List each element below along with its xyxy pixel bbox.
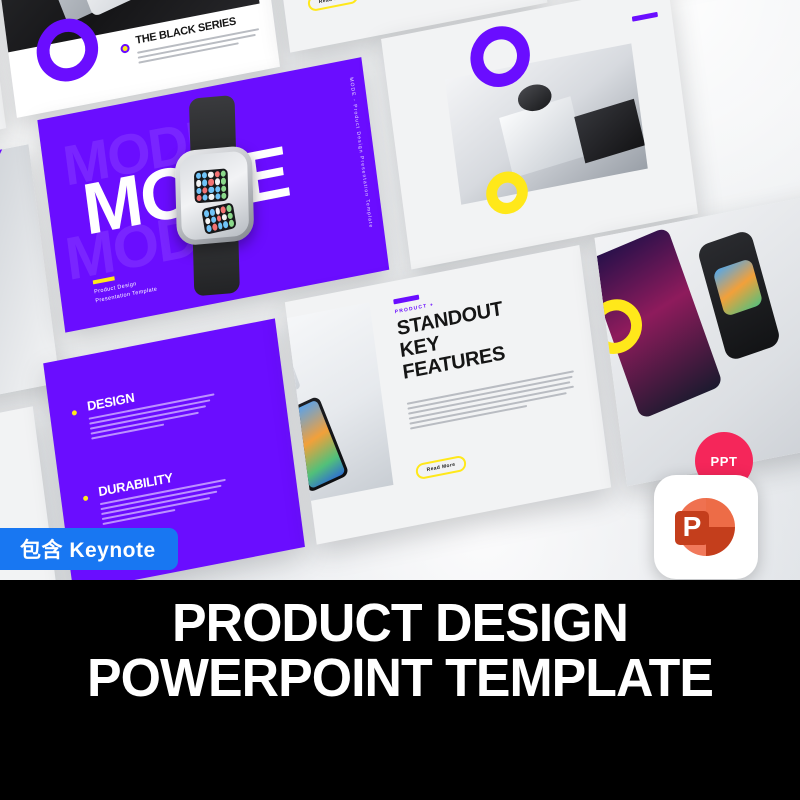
purple-bar-decor-product: [632, 12, 658, 22]
read-more-button-standout[interactable]: Read more: [415, 455, 467, 481]
promo-title: PRODUCT DESIGN POWERPOINT TEMPLATE: [0, 596, 800, 706]
phone-charger-photo: [285, 302, 394, 519]
hero-side-text: MODE - Product Design Presentation Templ…: [348, 77, 374, 229]
promo-title-line-2: POWERPOINT TEMPLATE: [16, 651, 784, 706]
smartwatch-screen: [180, 150, 250, 240]
read-more-button-sneak[interactable]: Read more: [307, 0, 359, 12]
powerpoint-glyph: P: [668, 489, 744, 565]
promo-image: GOAL MISSION THE BLACK S: [0, 0, 800, 800]
mini-watch-face-2: [201, 202, 237, 235]
mini-watch-face-1: [194, 168, 229, 203]
powerpoint-letter: P: [683, 511, 702, 542]
design-bullet-icon: [69, 408, 79, 419]
slide-body-standout: [407, 370, 577, 429]
slide-standout-key-features[interactable]: PRODUCT + STANDOUT KEY FEATURES Read mor…: [285, 245, 611, 545]
durability-bullet-icon: [81, 493, 91, 504]
promo-title-line-1: PRODUCT DESIGN: [16, 596, 784, 651]
powerpoint-icon: P: [654, 475, 758, 579]
smartwatch-body: [175, 145, 255, 246]
smartwatch-device: [164, 89, 265, 303]
keynote-included-badge: 包含 Keynote: [0, 528, 178, 570]
bullet-dot-icon: [120, 43, 130, 54]
purple-bar-decor-standout: [393, 295, 419, 305]
